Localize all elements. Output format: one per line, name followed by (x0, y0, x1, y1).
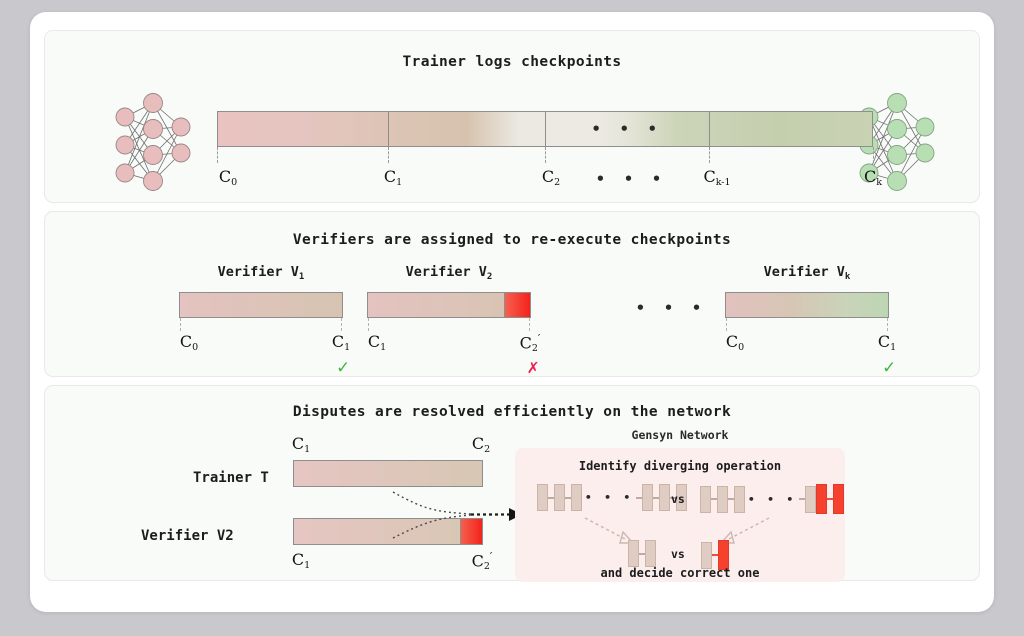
verifier-v2-start-label: C1 (368, 332, 386, 351)
panel-2-title: Verifiers are assigned to re-execute che… (45, 232, 979, 248)
tick-c2 (545, 147, 546, 163)
verifier-dispute-end-label: C2′ (472, 550, 493, 570)
op-block (645, 540, 656, 567)
verifier-dispute-start-label: C1 (292, 550, 310, 569)
timeline-label-dots: • • • (596, 170, 666, 188)
checkpoint-label-ck-1: Ck-1 (703, 167, 730, 186)
op-block (571, 484, 582, 511)
vs-label-bottom: vs (671, 547, 685, 561)
verifier-vk-title: Verifier Vk (764, 264, 851, 280)
verifier-v1-title: Verifier V1 (218, 264, 305, 280)
checkpoint-label-ck: Ck (864, 167, 882, 186)
op-chain-dots: • • • (745, 493, 799, 506)
op-block (628, 540, 639, 567)
trainer-start-label: C1 (292, 434, 310, 453)
check-icon-v1: ✓ (337, 356, 348, 378)
op-chain-dots: • • • (582, 491, 636, 504)
check-icon-vk: ✓ (883, 356, 894, 378)
op-block (642, 484, 653, 511)
trainer-bar (293, 460, 483, 487)
verifier-v2-title: Verifier V2 (406, 264, 493, 280)
diagram-root: Trainer logs checkpoints (0, 0, 1024, 636)
panel-verifiers: Verifiers are assigned to re-execute che… (44, 211, 980, 377)
verifiers-ellipsis: • • • (636, 299, 706, 317)
op-block (700, 486, 711, 513)
op-chain-verifier: • • • (700, 484, 844, 514)
panel-trainer-logs: Trainer logs checkpoints (44, 30, 980, 203)
verifier-v1-bar (179, 292, 343, 318)
panel-1-title: Trainer logs checkpoints (45, 54, 979, 70)
identify-diverging-text: Identify diverging operation (515, 459, 845, 473)
decide-correct-text: and decide correct one (515, 566, 845, 580)
checkpoint-label-c2: C2 (542, 167, 560, 186)
tick-ck (873, 147, 874, 163)
vs-label-top: vs (671, 492, 685, 506)
trainer-row-label: Trainer T (193, 470, 269, 486)
tick-c1 (388, 147, 389, 163)
op-block (659, 484, 670, 511)
verifier-vk-bar (725, 292, 889, 318)
op-zoom-trainer (628, 540, 656, 567)
timeline-inner-dots: • • • (592, 120, 662, 138)
tick-ck-1 (709, 147, 710, 163)
checkpoint-label-c0: C0 (219, 167, 237, 186)
verifier-vk-start-label: C0 (726, 332, 744, 351)
tick-c0 (217, 147, 218, 163)
gensyn-network-caption: Gensyn Network (515, 428, 845, 442)
op-block (717, 486, 728, 513)
checkpoint-timeline-bar: • • • (217, 111, 873, 147)
op-block (734, 486, 745, 513)
panel-3-title: Disputes are resolved efficiently on the… (45, 404, 979, 420)
trainer-end-label: C2 (472, 434, 490, 453)
neural-network-icon-pink (107, 89, 199, 193)
op-block (805, 486, 816, 513)
op-block (537, 484, 548, 511)
op-chain-trainer: • • • (537, 484, 687, 511)
gensyn-network-box: Identify diverging operation • • • vs (515, 448, 845, 582)
op-block-divergent (816, 484, 827, 514)
panel-disputes: Disputes are resolved efficiently on the… (44, 385, 980, 581)
verifier-v1-end-label: C1 (332, 332, 350, 351)
cross-icon-v2: ✗ (527, 356, 538, 378)
verifier-v2-end-label: C2′ (520, 332, 541, 352)
arrow-right-icon (385, 484, 525, 546)
op-block-divergent (833, 484, 844, 514)
checkpoint-label-c1: C1 (384, 167, 402, 186)
verifier-v2-bar (367, 292, 531, 318)
verifier-row-label: Verifier V2 (141, 528, 234, 544)
verifier-vk-end-label: C1 (878, 332, 896, 351)
op-block (701, 542, 712, 569)
verifier-v2-divergence-segment (504, 293, 530, 317)
op-block (554, 484, 565, 511)
main-card: Trainer logs checkpoints (30, 12, 994, 612)
verifier-v1-start-label: C0 (180, 332, 198, 351)
